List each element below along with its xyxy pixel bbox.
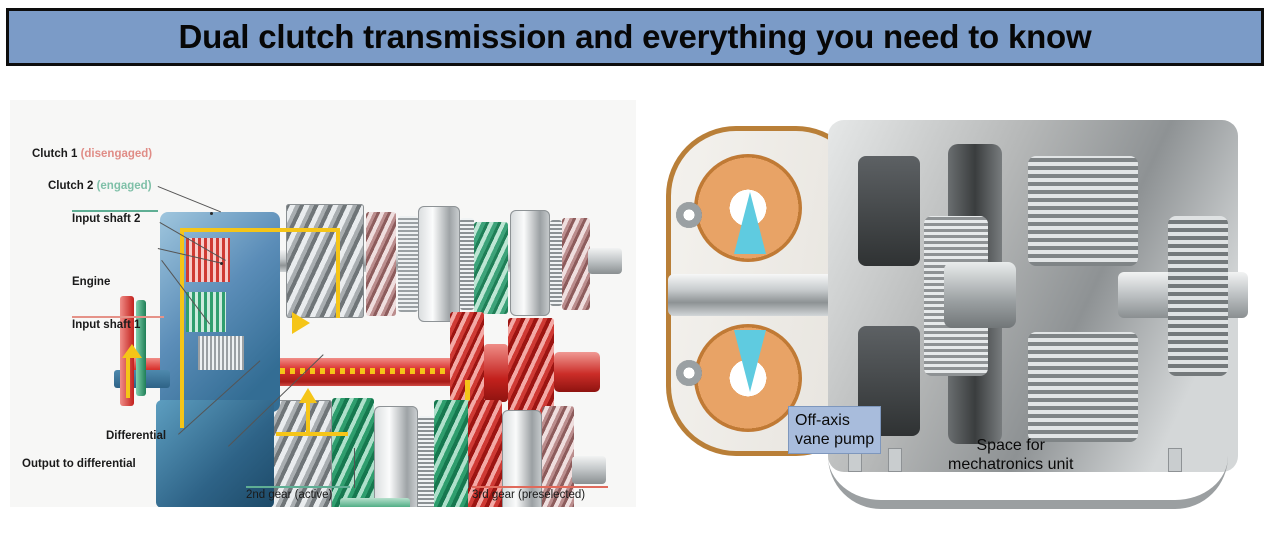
power-flow-vertical-2 (336, 228, 340, 318)
label-input-shaft-2: Input shaft 2 (72, 213, 140, 225)
power-flow-lower-arrow-head (299, 388, 317, 403)
upper-shaft-end (588, 248, 622, 274)
power-flow-horizontal-1 (180, 228, 340, 232)
clutch-pack-lower (374, 406, 418, 507)
transmission-illustration (10, 100, 636, 507)
gear-dusty-red-upper (366, 212, 396, 316)
dot-clutch2 (210, 212, 213, 215)
underline-input-shaft-1 (72, 316, 164, 318)
clutch-drum-hub (944, 262, 1016, 328)
label-input-shaft-1: Input shaft 1 (72, 319, 140, 331)
power-flow-vertical-1 (180, 228, 184, 428)
power-flow-arrow-head-left (292, 312, 310, 334)
final-drive-gear (1168, 216, 1228, 376)
clutch-2-plates (186, 292, 226, 332)
label-clutch-1: Clutch 1 (disengaged) (32, 148, 152, 160)
differential-housing (340, 498, 410, 507)
clutch-pack-upper (418, 206, 460, 322)
leader-2nd-gear (354, 448, 355, 488)
mounting-bolt-3 (1168, 448, 1182, 472)
gear-silver-large (286, 204, 364, 318)
leader-3rd-gear (468, 456, 469, 488)
label-differential: Differential (106, 430, 166, 442)
engine-arrow-head (122, 344, 142, 358)
label-3rd-gear: 3rd gear (preselected) (472, 489, 585, 501)
underline-2nd-gear (246, 486, 350, 488)
label-clutch-2-state: (engaged) (97, 180, 152, 192)
mounting-bolt-2 (888, 448, 902, 472)
gear-green-lower (332, 398, 374, 507)
spline-ring-upper-2 (550, 220, 562, 306)
page-title: Dual clutch transmission and everything … (179, 18, 1092, 56)
power-flow-lower-h (276, 432, 348, 436)
callout-mech-line2: mechatronics unit (948, 455, 1073, 474)
label-engine: Engine (72, 276, 110, 288)
dot-clutch1 (220, 262, 223, 265)
callout-pump-line2: vane pump (795, 430, 874, 449)
lower-shaft-end (572, 456, 606, 484)
gear-dusty-red-upper-2 (562, 218, 590, 310)
synchronizer-hub-upper (398, 216, 418, 312)
underline-input-shaft-2 (72, 210, 158, 212)
callout-off-axis-vane-pump: Off-axis vane pump (788, 406, 881, 454)
red-output-stub (554, 352, 600, 392)
spline-ring-lower (418, 416, 434, 507)
callout-space-for-mechatronics-unit: Space for mechatronics unit (948, 436, 1073, 474)
underline-3rd-gear (472, 486, 608, 488)
gear-stack-lower-right (1028, 332, 1138, 442)
callout-mech-line1: Space for (948, 436, 1073, 455)
label-2nd-gear: 2nd gear (active) (246, 489, 332, 501)
gear-green-lower-2 (434, 400, 470, 507)
title-banner: Dual clutch transmission and everything … (6, 8, 1264, 66)
casing-cavity-1 (858, 156, 920, 266)
label-clutch-1-state: (disengaged) (81, 148, 153, 160)
power-flow-lower-v (306, 402, 310, 436)
spline-ring-upper (460, 218, 474, 310)
callout-pump-line1: Off-axis (795, 411, 874, 430)
clutch-spring-pack (198, 336, 244, 370)
clutch-pack-upper-2 (510, 210, 550, 316)
pump-bearing-top (676, 202, 702, 228)
gear-stack-upper-right (1028, 156, 1138, 266)
pump-bearing-bottom (676, 360, 702, 386)
vane-pump-wedge-bottom (734, 330, 766, 392)
gear-green-upper (474, 222, 508, 314)
vane-pump-wedge-top (734, 192, 766, 254)
label-clutch-2: Clutch 2 (engaged) (48, 180, 152, 192)
right-diagram-panel: Off-axis vane pump Space for mechatronic… (648, 96, 1268, 526)
label-clutch-1-main: Clutch 1 (32, 148, 77, 160)
label-output-to-differential: Output to differential (22, 458, 136, 470)
power-flow-engine-arc (126, 352, 130, 398)
left-diagram-panel: Clutch 1 (disengaged) Clutch 2 (engaged)… (10, 100, 636, 507)
red-hub-center (484, 344, 508, 402)
label-clutch-2-main: Clutch 2 (48, 180, 93, 192)
